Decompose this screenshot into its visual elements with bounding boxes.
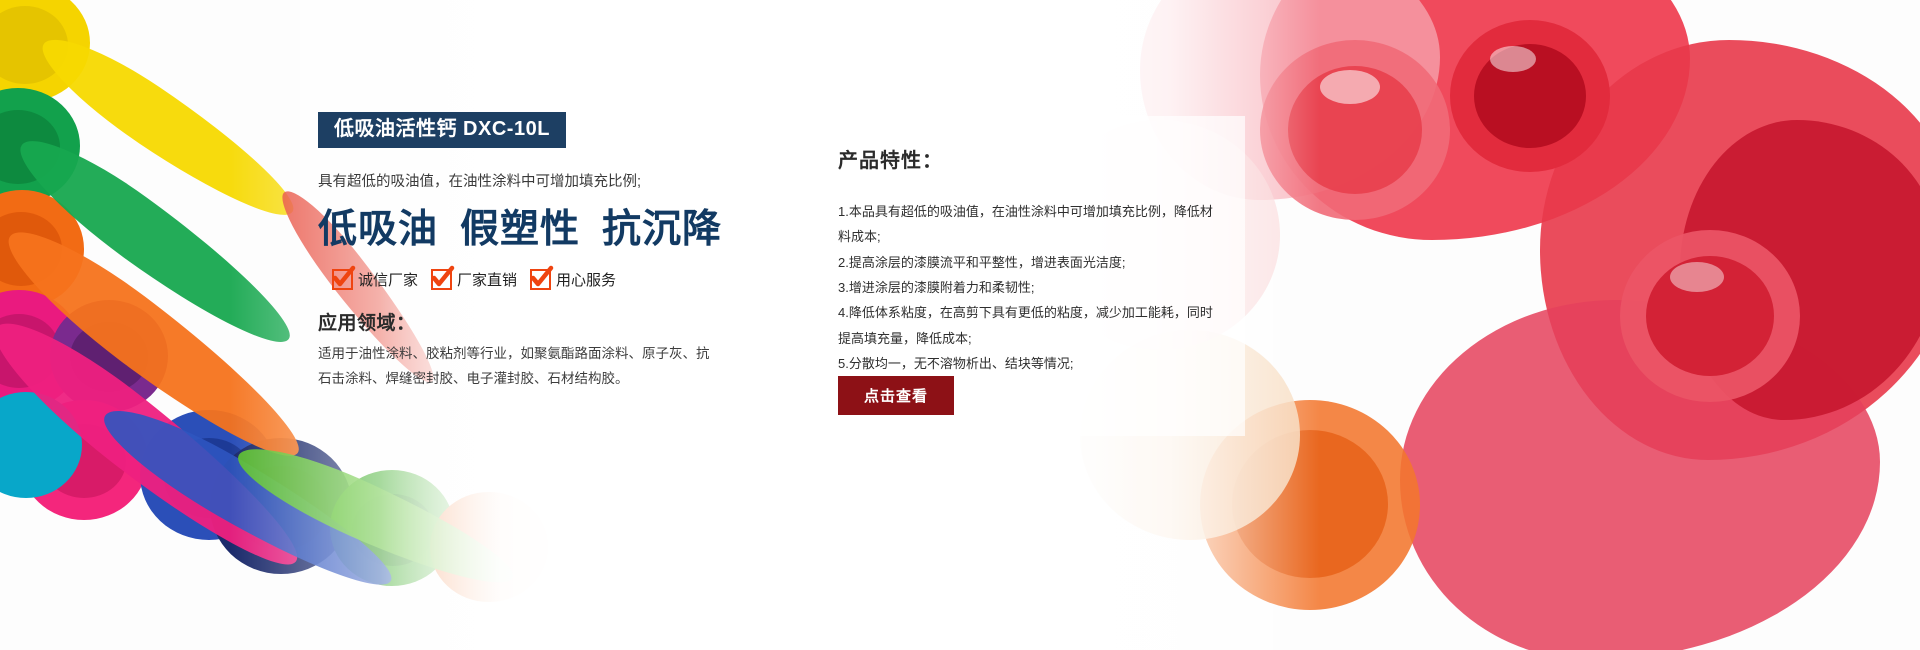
- feature-item: 4.降低体系粘度，在高剪下具有更低的粘度，减少加工能耗，同时提高填充量，降低成本…: [838, 300, 1219, 351]
- checkbox-check-icon: [530, 269, 551, 290]
- checkbox-check-icon: [332, 269, 353, 290]
- application-body: 适用于油性涂料、胶粘剂等行业，如聚氨酯路面涂料、原子灰、抗石击涂料、焊缝密封胶、…: [318, 342, 713, 392]
- left-content-column: 低吸油活性钙 DXC-10L 具有超低的吸油值，在油性涂料中可增加填充比例; 低…: [318, 112, 738, 392]
- trust-badge-1: 诚信厂家: [332, 269, 418, 290]
- view-details-button[interactable]: 点击查看: [838, 376, 954, 415]
- checkbox-check-icon: [431, 269, 452, 290]
- headline-part-1: 低吸油: [318, 208, 438, 251]
- feature-item: 2.提高涂层的漆膜流平和平整性，增进表面光洁度;: [838, 250, 1219, 275]
- product-banner: 低吸油活性钙 DXC-10L 具有超低的吸油值，在油性涂料中可增加填充比例; 低…: [0, 0, 1920, 650]
- headline-part-2: 假塑性: [460, 208, 580, 251]
- features-list: 1.本品具有超低的吸油值，在油性涂料中可增加填充比例，降低材料成本; 2.提高涂…: [838, 199, 1219, 376]
- trust-badge-2: 厂家直销: [431, 269, 517, 290]
- product-badge: 低吸油活性钙 DXC-10L: [318, 112, 566, 148]
- trust-badge-label: 用心服务: [556, 269, 616, 290]
- paint-highlight-1: [1320, 70, 1380, 104]
- feature-item: 1.本品具有超低的吸油值，在油性涂料中可增加填充比例，降低材料成本;: [838, 199, 1219, 250]
- trust-badge-label: 诚信厂家: [358, 269, 418, 290]
- paint-highlight-2: [1490, 46, 1536, 72]
- trust-badge-3: 用心服务: [530, 269, 616, 290]
- product-subtitle: 具有超低的吸油值，在油性涂料中可增加填充比例;: [318, 172, 738, 194]
- feature-item: 5.分散均一，无不溶物析出、结块等情况;: [838, 351, 1219, 376]
- trust-badge-label: 厂家直销: [457, 269, 517, 290]
- headline-part-3: 抗沉降: [602, 208, 722, 251]
- trust-badge-row: 诚信厂家 厂家直销 用心服务: [318, 269, 738, 290]
- features-panel-title: 产品特性：: [838, 144, 1219, 173]
- feature-item: 3.增进涂层的漆膜附着力和柔韧性;: [838, 275, 1219, 300]
- product-headline: 低吸油假塑性抗沉降: [318, 208, 738, 253]
- paint-highlight-3: [1670, 262, 1724, 292]
- application-title: 应用领域：: [318, 308, 738, 335]
